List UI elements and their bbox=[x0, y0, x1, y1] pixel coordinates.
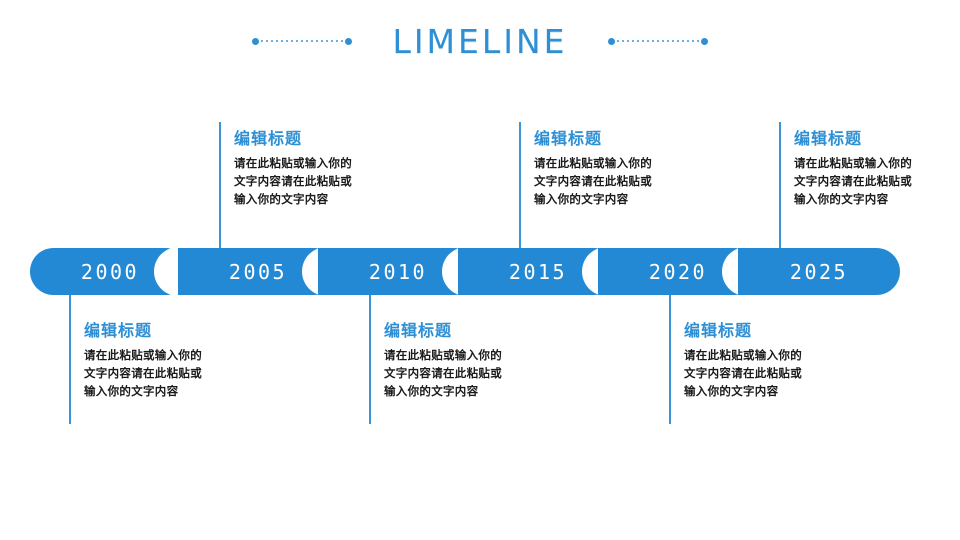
timeline-segment-2010[interactable]: 2010 bbox=[318, 248, 478, 295]
timeline-year-label: 2015 bbox=[458, 260, 618, 284]
timeline-year-label: 2005 bbox=[178, 260, 338, 284]
timeline-year-label: 2025 bbox=[738, 260, 900, 284]
connector-line-2025 bbox=[779, 122, 781, 250]
entry-title: 编辑标题 bbox=[84, 322, 234, 341]
entry-body: 请在此粘贴或输入你的文字内容请在此粘贴或输入你的文字内容 bbox=[684, 348, 812, 401]
timeline-entry-2010: 编辑标题 请在此粘贴或输入你的文字内容请在此粘贴或输入你的文字内容 bbox=[384, 322, 534, 402]
timeline-entry-2000: 编辑标题 请在此粘贴或输入你的文字内容请在此粘贴或输入你的文字内容 bbox=[84, 322, 234, 402]
timeline-year-label: 2010 bbox=[318, 260, 478, 284]
timeline-segment-2005[interactable]: 2005 bbox=[178, 248, 338, 295]
timeline-segment-2020[interactable]: 2020 bbox=[598, 248, 758, 295]
page-title: LIMELINE bbox=[392, 22, 567, 61]
timeline-entry-2005: 编辑标题 请在此粘贴或输入你的文字内容请在此粘贴或输入你的文字内容 bbox=[234, 130, 384, 210]
timeline-segment-2015[interactable]: 2015 bbox=[458, 248, 618, 295]
timeline-entry-2020: 编辑标题 请在此粘贴或输入你的文字内容请在此粘贴或输入你的文字内容 bbox=[684, 322, 834, 402]
decoration-dotted-line bbox=[261, 40, 343, 42]
decoration-dot-start bbox=[252, 38, 259, 45]
connector-line-2000 bbox=[69, 294, 71, 424]
entry-body: 请在此粘贴或输入你的文字内容请在此粘贴或输入你的文字内容 bbox=[384, 348, 512, 401]
connector-line-2010 bbox=[369, 294, 371, 424]
entry-title: 编辑标题 bbox=[384, 322, 534, 341]
timeline-entry-2015: 编辑标题 请在此粘贴或输入你的文字内容请在此粘贴或输入你的文字内容 bbox=[534, 130, 684, 210]
entry-title: 编辑标题 bbox=[684, 322, 834, 341]
timeline-year-label: 2020 bbox=[598, 260, 758, 284]
decoration-dotted-line bbox=[617, 40, 699, 42]
connector-line-2015 bbox=[519, 122, 521, 250]
connector-line-2005 bbox=[219, 122, 221, 250]
decoration-dot-end bbox=[345, 38, 352, 45]
entry-title: 编辑标题 bbox=[794, 130, 944, 149]
decoration-dot-start bbox=[608, 38, 615, 45]
dotted-line-decoration-left bbox=[252, 36, 352, 46]
timeline-segment-2000[interactable]: 2000 bbox=[30, 248, 190, 295]
timeline-segment-2025[interactable]: 2025 bbox=[738, 248, 900, 295]
timeline-year-label: 2000 bbox=[30, 260, 190, 284]
entry-title: 编辑标题 bbox=[234, 130, 384, 149]
timeline-bar: 2000 2005 2010 2015 2020 2025 bbox=[30, 248, 930, 295]
dotted-line-decoration-right bbox=[608, 36, 708, 46]
decoration-dot-end bbox=[701, 38, 708, 45]
entry-body: 请在此粘贴或输入你的文字内容请在此粘贴或输入你的文字内容 bbox=[84, 348, 212, 401]
entry-body: 请在此粘贴或输入你的文字内容请在此粘贴或输入你的文字内容 bbox=[794, 156, 922, 209]
timeline-entry-2025: 编辑标题 请在此粘贴或输入你的文字内容请在此粘贴或输入你的文字内容 bbox=[794, 130, 944, 210]
page-header: LIMELINE bbox=[0, 18, 960, 64]
entry-title: 编辑标题 bbox=[534, 130, 684, 149]
connector-line-2020 bbox=[669, 294, 671, 424]
entry-body: 请在此粘贴或输入你的文字内容请在此粘贴或输入你的文字内容 bbox=[234, 156, 362, 209]
entry-body: 请在此粘贴或输入你的文字内容请在此粘贴或输入你的文字内容 bbox=[534, 156, 662, 209]
